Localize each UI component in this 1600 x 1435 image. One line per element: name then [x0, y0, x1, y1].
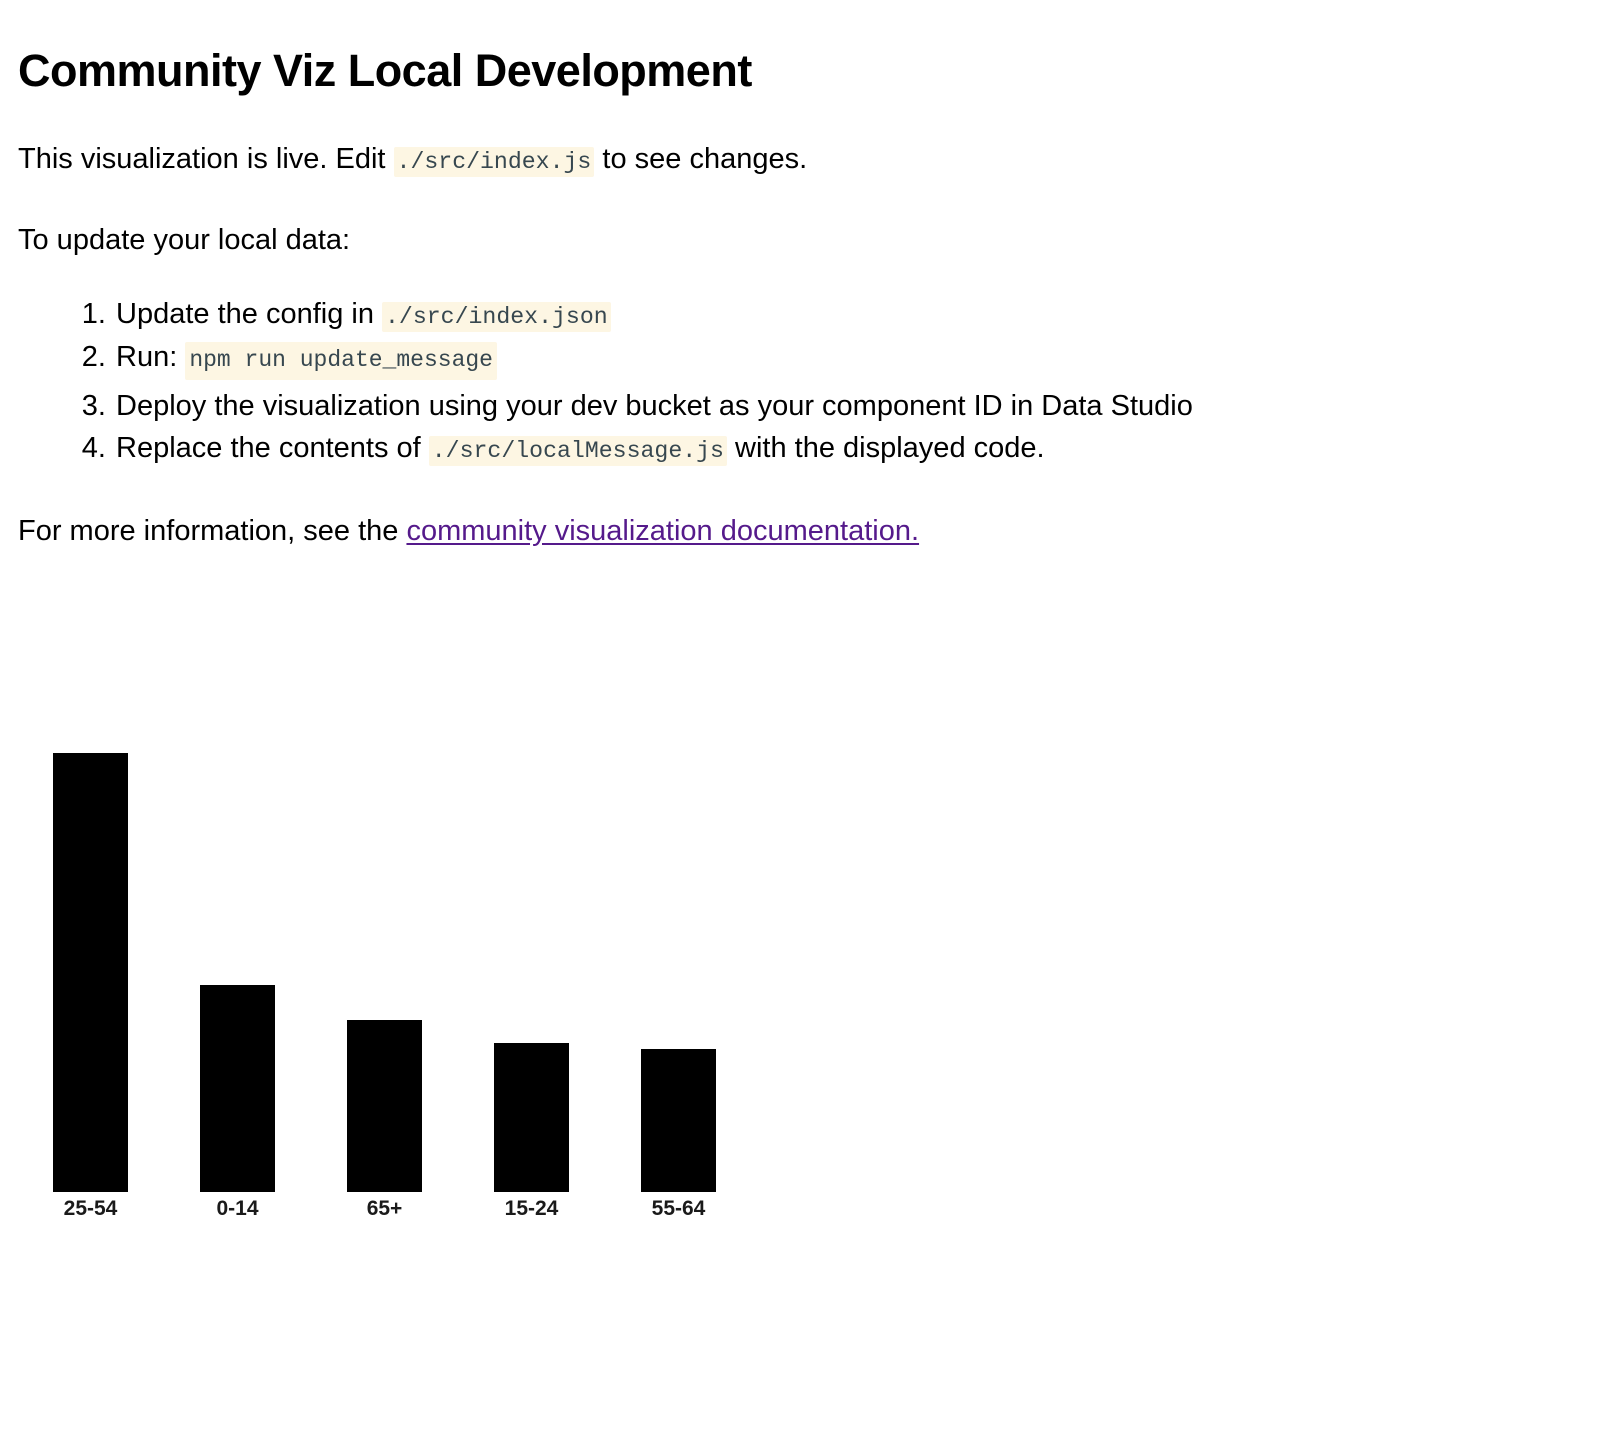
page-title: Community Viz Local Development — [18, 44, 1578, 97]
bar-65+[interactable] — [347, 1020, 422, 1192]
inline-code-index-js: ./src/index.js — [394, 147, 595, 177]
footer-paragraph: For more information, see the community … — [18, 512, 1578, 550]
x-axis-label-0-14: 0-14 — [216, 1197, 258, 1220]
list-item-step-1: Update the config in ./src/index.json — [114, 294, 1578, 335]
intro-text-after: to see changes. — [594, 143, 807, 175]
steps-list: Update the config in ./src/index.json Ru… — [18, 294, 1578, 469]
bar-chart: 25-540-1465+15-2455-64 — [0, 700, 800, 1260]
community-visualization-documentation-link[interactable]: community visualization documentation. — [406, 515, 919, 547]
inline-code-index-json: ./src/index.json — [382, 302, 611, 332]
x-axis-label-15-24: 15-24 — [505, 1197, 559, 1220]
list-item-step-4: Replace the contents of ./src/localMessa… — [114, 428, 1578, 469]
step-2-text-before: Run: — [116, 341, 177, 373]
x-axis-label-55-64: 55-64 — [652, 1197, 706, 1220]
bar-chart-svg: 25-540-1465+15-2455-64 — [0, 700, 800, 1260]
document-body: Community Viz Local Development This vis… — [18, 44, 1578, 550]
step-1-text-before: Update the config in — [116, 298, 382, 330]
update-heading: To update your local data: — [18, 221, 1578, 259]
list-item-step-2: Run: npm run update_message — [114, 336, 1578, 383]
x-axis-label-25-54: 25-54 — [64, 1197, 118, 1220]
intro-text-before: This visualization is live. Edit — [18, 143, 394, 175]
code-block-npm-command[interactable]: npm run update_message — [185, 342, 497, 379]
inline-code-local-message-js: ./src/localMessage.js — [429, 436, 727, 466]
step-4-text-before: Replace the contents of — [116, 432, 429, 464]
viz-page: Community Viz Local Development This vis… — [0, 0, 1600, 1435]
footer-text-before: For more information, see the — [18, 515, 406, 547]
bar-chart-bars — [53, 753, 716, 1192]
step-3-text-before: Deploy the visualization using your dev … — [116, 390, 1193, 422]
intro-paragraph: This visualization is live. Edit ./src/i… — [18, 140, 1578, 178]
bar-0-14[interactable] — [200, 985, 275, 1192]
step-4-text-after: with the displayed code. — [727, 432, 1045, 464]
bar-chart-x-axis-labels: 25-540-1465+15-2455-64 — [64, 1197, 706, 1220]
x-axis-label-65+: 65+ — [367, 1197, 403, 1220]
list-item-step-3: Deploy the visualization using your dev … — [114, 386, 1578, 427]
bar-25-54[interactable] — [53, 753, 128, 1192]
bar-15-24[interactable] — [494, 1043, 569, 1192]
bar-55-64[interactable] — [641, 1049, 716, 1192]
